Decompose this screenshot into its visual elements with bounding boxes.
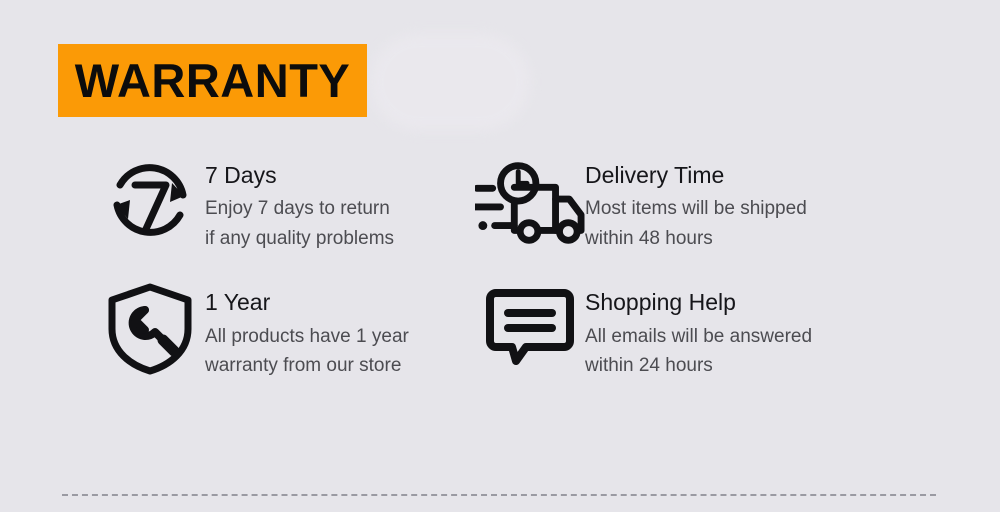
feature-item-delivery-time: Delivery Time Most items will be shipped… (455, 152, 895, 253)
feature-line: if any quality problems (205, 224, 394, 253)
feature-item-7-days: 7 Days Enjoy 7 days to return if any qua… (0, 152, 455, 253)
feature-row: 1 Year All products have 1 year warranty… (0, 279, 1000, 380)
feature-text: 7 Days Enjoy 7 days to return if any qua… (205, 152, 394, 253)
feature-row: 7 Days Enjoy 7 days to return if any qua… (0, 152, 1000, 253)
delivery-truck-clock-icon (475, 152, 585, 252)
feature-line: All products have 1 year (205, 322, 409, 351)
feature-text: Delivery Time Most items will be shipped… (585, 152, 807, 253)
feature-title: Shopping Help (585, 289, 812, 315)
page-title: WARRANTY (75, 57, 351, 104)
feature-text: 1 Year All products have 1 year warranty… (205, 279, 409, 380)
feature-item-shopping-help: Shopping Help All emails will be answere… (455, 279, 895, 380)
feature-item-1-year: 1 Year All products have 1 year warranty… (0, 279, 455, 380)
bottom-dashed-divider (62, 494, 936, 496)
feature-title: 1 Year (205, 289, 409, 315)
feature-line: within 48 hours (585, 224, 807, 253)
feature-line: warranty from our store (205, 351, 409, 380)
shield-wrench-icon (95, 279, 205, 379)
feature-line: Most items will be shipped (585, 194, 807, 223)
feature-title: Delivery Time (585, 162, 807, 188)
warranty-banner: WARRANTY (58, 44, 367, 117)
feature-line: All emails will be answered (585, 322, 812, 351)
feature-line: within 24 hours (585, 351, 812, 380)
background-highlight-blob (370, 34, 530, 130)
feature-grid: 7 Days Enjoy 7 days to return if any qua… (0, 152, 1000, 381)
circular-arrows-seven-icon (95, 152, 205, 252)
warranty-banner-page: WARRANTY (0, 0, 1000, 512)
feature-text: Shopping Help All emails will be answere… (585, 279, 812, 380)
feature-line: Enjoy 7 days to return (205, 194, 394, 223)
speech-bubble-icon (475, 279, 585, 379)
feature-title: 7 Days (205, 162, 394, 188)
